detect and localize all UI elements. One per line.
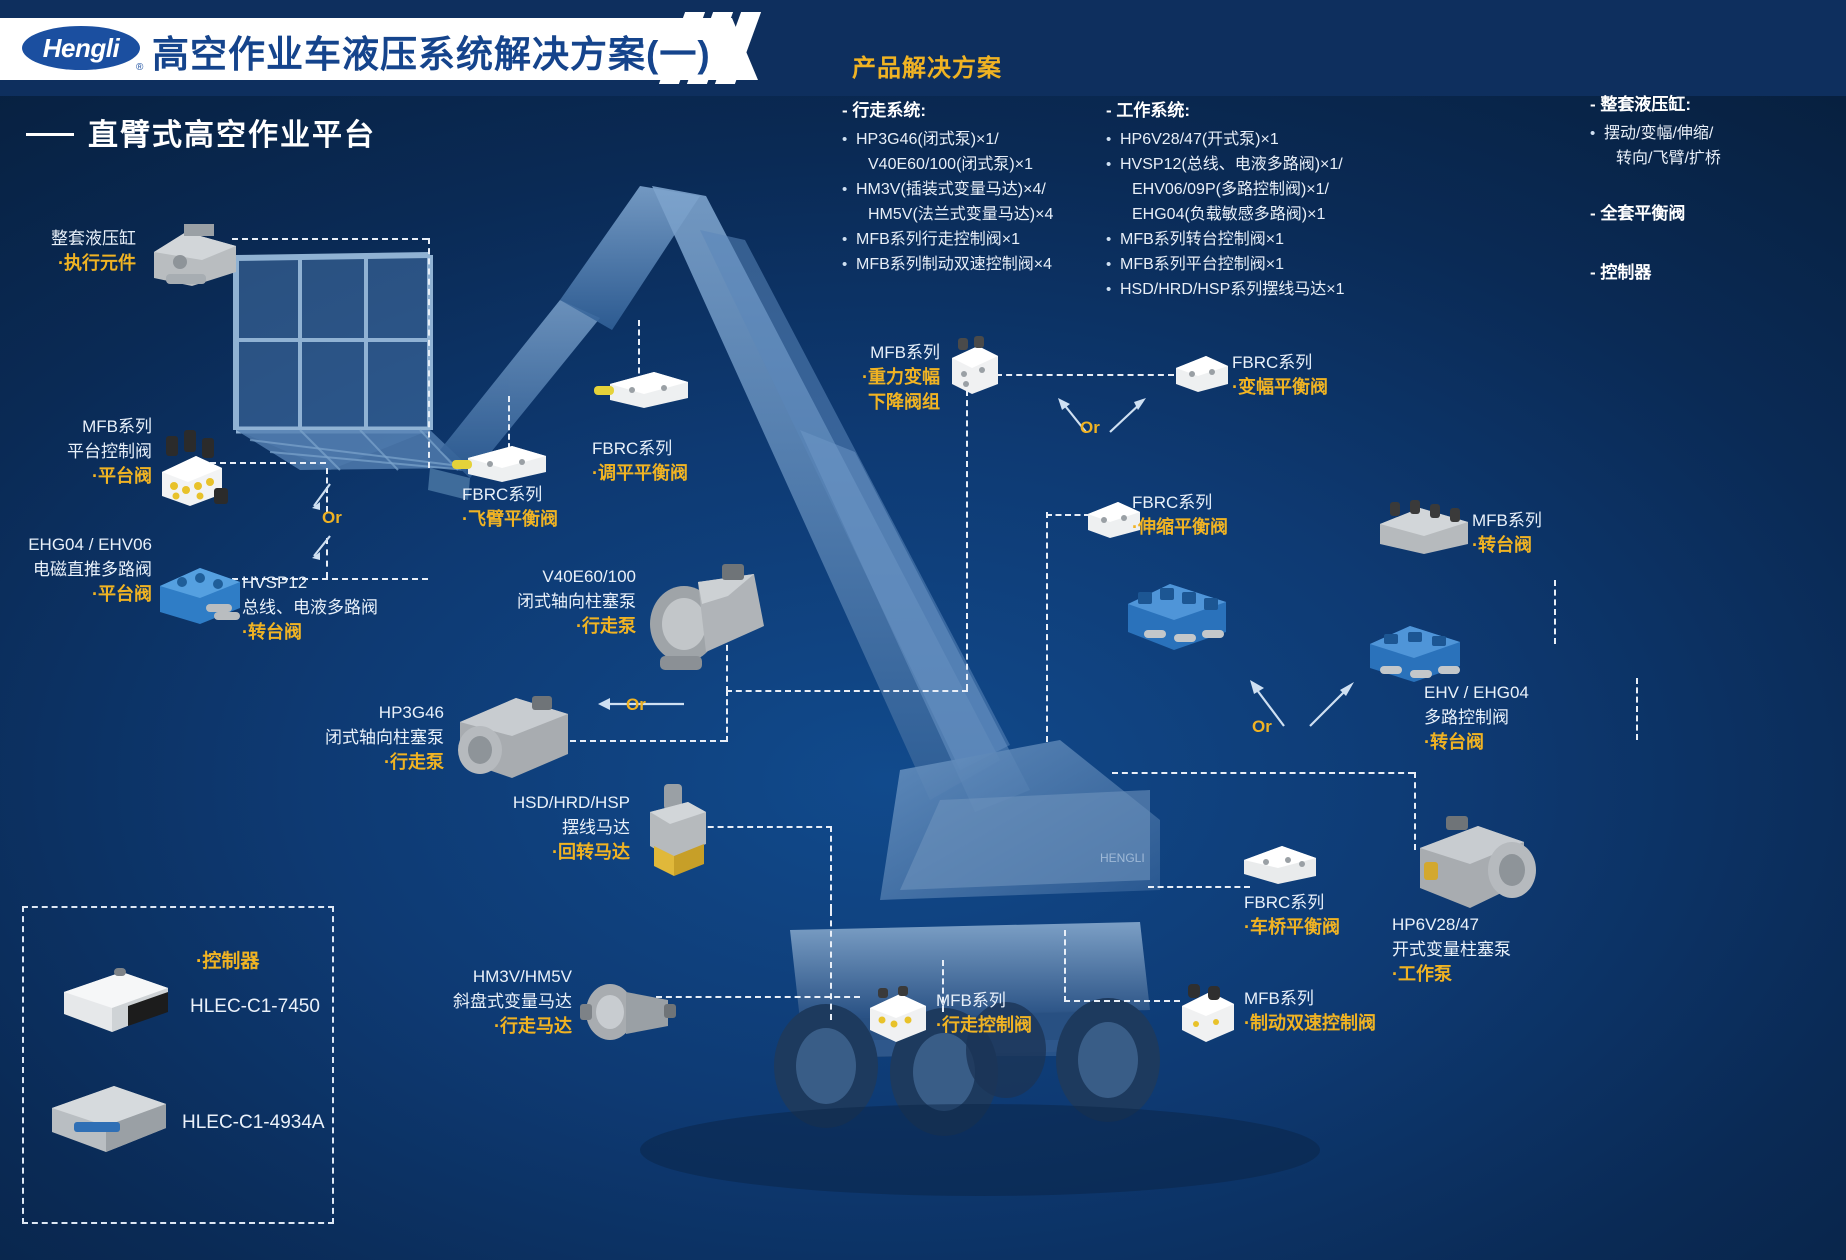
or-label: Or (322, 508, 342, 528)
callout-line: V40E60/100 (398, 564, 636, 589)
callout-line: 闭式轴向柱塞泵 (398, 589, 636, 614)
product-image-fbrc-leveling-valve (592, 368, 698, 410)
callout-fbrc-telescoping: FBRC系列 ·伸缩平衡阀 (1132, 490, 1228, 540)
callout-v40e: V40E60/100 闭式轴向柱塞泵 ·行走泵 (398, 564, 636, 639)
callout-hsd-hrd-hsp: HSD/HRD/HSP 摆线马达 ·回转马达 (390, 790, 630, 865)
callout-highlight: ·平台阀 (0, 464, 152, 489)
connector-line (830, 826, 832, 910)
connector-line (1064, 930, 1066, 1002)
svg-text:HENGLI: HENGLI (1100, 851, 1145, 865)
controller-group-box (22, 906, 334, 1224)
callout-line: FBRC系列 (1132, 490, 1228, 515)
product-image-hm3v-motor (576, 974, 676, 1046)
callout-mfb-platform: MFB系列 平台控制阀 ·平台阀 (0, 414, 152, 489)
callout-ehv-ehg04: EHV / EHG04 多路控制阀 ·转台阀 (1424, 680, 1529, 755)
connector-line (1554, 580, 1556, 644)
callout-highlight: ·车桥平衡阀 (1244, 915, 1340, 940)
product-image-hp3g46-pump (446, 678, 576, 788)
connector-line (830, 910, 832, 1020)
connector-line (1112, 772, 1414, 774)
connector-line (1148, 886, 1250, 888)
callout-line: FBRC系列 (592, 436, 688, 461)
product-image-mfb-travel-valve (862, 986, 934, 1046)
product-image-fbrc-axle-valve (1236, 840, 1324, 886)
callout-line: 整套液压缸 (0, 226, 136, 251)
connector-line (1636, 678, 1638, 740)
callout-line: HP6V28/47 (1392, 912, 1511, 937)
callout-hp3g46: HP3G46 闭式轴向柱塞泵 ·行走泵 (228, 700, 444, 775)
callout-highlight: ·工作泵 (1392, 962, 1511, 987)
connector-line (996, 374, 1174, 376)
callout-line: MFB系列 (1472, 508, 1542, 533)
callout-line: 闭式轴向柱塞泵 (228, 725, 444, 750)
callout-mfb-brake: MFB系列 ·制动双速控制阀 (1244, 986, 1376, 1036)
callout-highlight: ·飞臂平衡阀 (462, 507, 558, 532)
callout-line: FBRC系列 (462, 482, 558, 507)
callout-highlight: ·平台阀 (0, 582, 152, 607)
controller-name-7450: HLEC-C1-7450 (190, 996, 320, 1018)
product-image-fbrc-luffing-valve (1168, 350, 1234, 394)
callout-line: 电磁直推多路阀 (0, 557, 152, 582)
callout-highlight: ·执行元件 (0, 251, 136, 276)
callout-highlight: ·行走马达 (340, 1014, 572, 1039)
product-image-hydraulic-cylinder (140, 212, 252, 296)
callout-mfb-gravity: MFB系列 ·重力变幅 下降阀组 (820, 340, 940, 415)
callout-highlight: ·制动双速控制阀 (1244, 1011, 1376, 1036)
callout-mfb-swing: MFB系列 ·转台阀 (1472, 508, 1542, 558)
connector-line (232, 238, 428, 240)
callout-highlight: ·行走泵 (228, 750, 444, 775)
callout-cylinders: 整套液压缸 ·执行元件 (0, 226, 136, 276)
or-label: Or (1252, 717, 1272, 737)
callout-line: 多路控制阀 (1424, 705, 1529, 730)
product-image-mfb-gravity-valve (944, 336, 1002, 398)
callout-highlight: ·变幅平衡阀 (1232, 375, 1328, 400)
connector-line (1064, 1000, 1180, 1002)
or-label: Or (626, 695, 646, 715)
callout-highlight: ·转台阀 (1472, 533, 1542, 558)
callout-highlight: ·伸缩平衡阀 (1132, 515, 1228, 540)
connector-line (726, 690, 728, 742)
callout-line: MFB系列 (820, 340, 940, 365)
callout-fbrc-flyjib: FBRC系列 ·飞臂平衡阀 (462, 482, 558, 532)
callout-line: FBRC系列 (1232, 350, 1328, 375)
callout-hp6v: HP6V28/47 开式变量柱塞泵 ·工作泵 (1392, 912, 1511, 987)
callout-fbrc-luffing: FBRC系列 ·变幅平衡阀 (1232, 350, 1328, 400)
callout-ehg04-ehv06: EHG04 / EHV06 电磁直推多路阀 ·平台阀 (0, 532, 152, 607)
callout-highlight: ·行走泵 (398, 614, 636, 639)
product-image-ehg04-ehv06-valve (152, 556, 244, 628)
connector-line (726, 690, 968, 692)
product-image-mfb-platform-valve (152, 428, 230, 508)
controller-name-4934a: HLEC-C1-4934A (182, 1112, 325, 1134)
callout-line: 开式变量柱塞泵 (1392, 937, 1511, 962)
callout-line: 摆线马达 (390, 815, 630, 840)
callout-fbrc-axle: FBRC系列 ·车桥平衡阀 (1244, 890, 1340, 940)
callout-fbrc-leveling: FBRC系列 ·调平平衡阀 (592, 436, 688, 486)
connector-line (656, 996, 860, 998)
callout-highlight: ·回转马达 (390, 840, 630, 865)
or-label: Or (1080, 418, 1100, 438)
callout-line: FBRC系列 (1244, 890, 1340, 915)
callout-line: HM3V/HM5V (340, 964, 572, 989)
controller-group-title: ·控制器 (196, 946, 259, 973)
callout-highlight: ·调平平衡阀 (592, 461, 688, 486)
callout-line: MFB系列 (0, 414, 152, 439)
or-arrow-swing-valves (1224, 664, 1364, 740)
product-image-hsd-orbital-motor (636, 782, 714, 882)
product-image-hp6v-pump (1406, 812, 1540, 926)
callout-line: 平台控制阀 (0, 439, 152, 464)
callout-highlight: ·重力变幅 (820, 365, 940, 390)
product-image-mfb-brake-valve (1174, 984, 1242, 1046)
connector-line (428, 238, 430, 468)
callout-line: MFB系列 (936, 988, 1032, 1013)
connector-line (966, 390, 968, 690)
callout-line: HP3G46 (228, 700, 444, 725)
callout-highlight-second: 下降阀组 (820, 390, 940, 415)
callout-line: HSD/HRD/HSP (390, 790, 630, 815)
callout-highlight: ·转台阀 (1424, 730, 1529, 755)
product-image-mfb-swing-valve (1372, 500, 1476, 556)
callout-mfb-travel: MFB系列 ·行走控制阀 (936, 988, 1032, 1038)
callout-line: EHV / EHG04 (1424, 680, 1529, 705)
product-image-fbrc-flyjib-valve (450, 442, 556, 484)
callout-line: MFB系列 (1244, 986, 1376, 1011)
callout-line: 斜盘式变量马达 (340, 989, 572, 1014)
callout-line: EHG04 / EHV06 (0, 532, 152, 557)
callout-hm3v-hm5v: HM3V/HM5V 斜盘式变量马达 ·行走马达 (340, 964, 572, 1039)
callout-highlight: ·行走控制阀 (936, 1013, 1032, 1038)
